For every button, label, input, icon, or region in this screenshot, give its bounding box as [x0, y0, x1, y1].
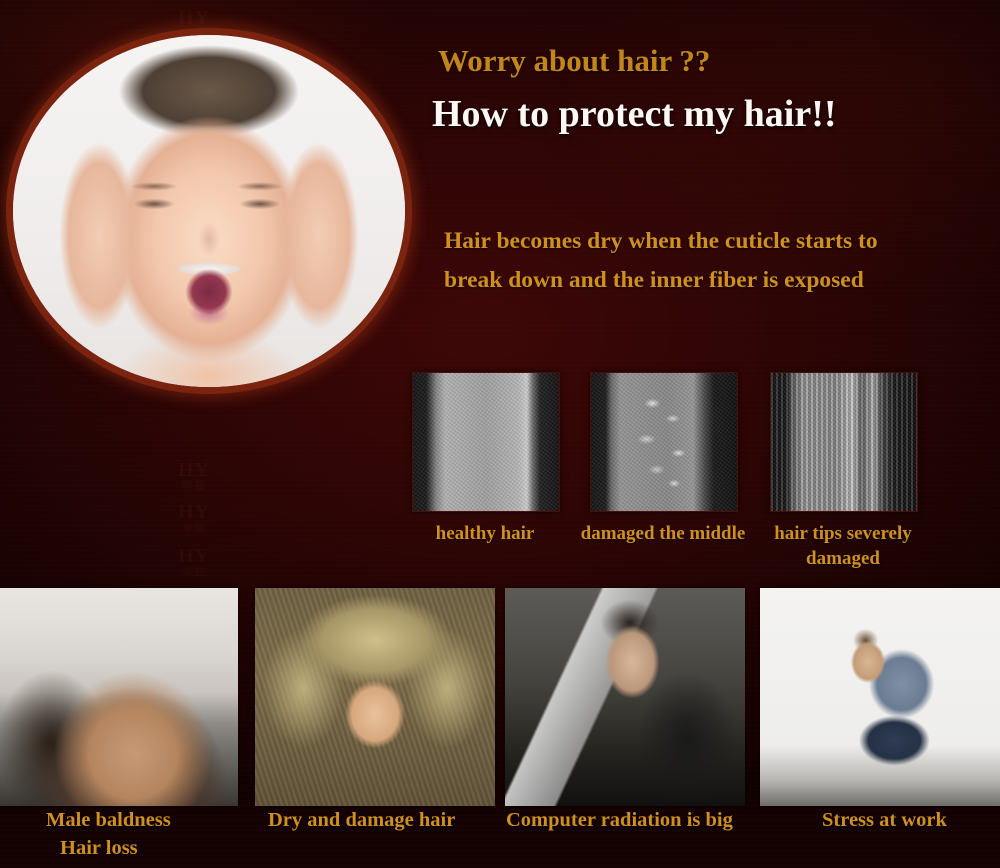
- photo-caption-dry-damage-hair: Dry and damage hair: [268, 806, 455, 834]
- watermark: HY华益: [178, 460, 210, 493]
- headline-block: Worry about hair ?? How to protect my ha…: [432, 44, 988, 136]
- watermark: HY华益: [178, 502, 210, 535]
- micrograph-damaged-tips-image: [770, 372, 918, 512]
- caption-line-1: Male baldness: [46, 809, 171, 831]
- hero-portrait-circle: [6, 28, 412, 394]
- micrograph-grain-overlay: [771, 373, 917, 511]
- photo-cell-computer-radiation: [505, 588, 745, 806]
- micrograph-caption: healthy hair: [412, 521, 558, 546]
- caption-line-2: Hair loss: [46, 834, 171, 862]
- dry-frizzy-hair-photo: [255, 588, 495, 806]
- micrograph-item: healthy hair: [412, 372, 558, 546]
- photo-cell-dry-damage-hair: [255, 588, 495, 806]
- photo-cell-male-baldness: [0, 588, 238, 806]
- screaming-woman-photo: [13, 35, 405, 387]
- lede-paragraph: Hair becomes dry when the cuticle starts…: [444, 222, 992, 301]
- micrograph-caption: damaged the middle: [564, 521, 762, 546]
- lede-line-1: Hair becomes dry when the cuticle starts…: [444, 222, 992, 261]
- micrograph-grain-overlay: [413, 373, 559, 511]
- micrograph-caption: hair tips severely damaged: [758, 521, 928, 571]
- caption-line-1: Computer radiation is big: [506, 809, 733, 831]
- micrograph-healthy-hair-image: [412, 372, 560, 512]
- photo-caption-stress-at-work: Stress at work: [822, 806, 947, 834]
- micrograph-item: damaged the middle: [590, 372, 736, 546]
- caption-line-1: Stress at work: [822, 809, 947, 831]
- micrograph-comparison-strip: healthy hair damaged the middle hair tip…: [404, 372, 996, 572]
- micrograph-damaged-middle-image: [590, 372, 738, 512]
- page-title: How to protect my hair!!: [432, 94, 988, 136]
- photo-caption-computer-radiation: Computer radiation is big: [506, 806, 733, 834]
- hair-care-promo-banner: HY华益 HY华益 HY华益 HY华益 Worry about hair ?? …: [0, 0, 1000, 868]
- photo-caption-male-baldness: Male baldness Hair loss: [46, 806, 171, 863]
- man-at-computer-photo: [505, 588, 745, 806]
- caption-line-1: Dry and damage hair: [268, 809, 455, 831]
- cause-photo-row: [0, 588, 1000, 806]
- micrograph-grain-overlay: [591, 373, 737, 511]
- stressed-man-photo: [760, 588, 1000, 806]
- lede-line-2: break down and the inner fiber is expose…: [444, 261, 992, 300]
- kicker-text: Worry about hair ??: [438, 44, 988, 78]
- balding-man-photo: [0, 588, 238, 806]
- micrograph-item: hair tips severely damaged: [770, 372, 916, 571]
- photo-cell-stress-at-work: [760, 588, 1000, 806]
- cause-caption-row: Male baldness Hair loss Dry and damage h…: [0, 806, 1000, 868]
- watermark: HY华益: [178, 546, 210, 579]
